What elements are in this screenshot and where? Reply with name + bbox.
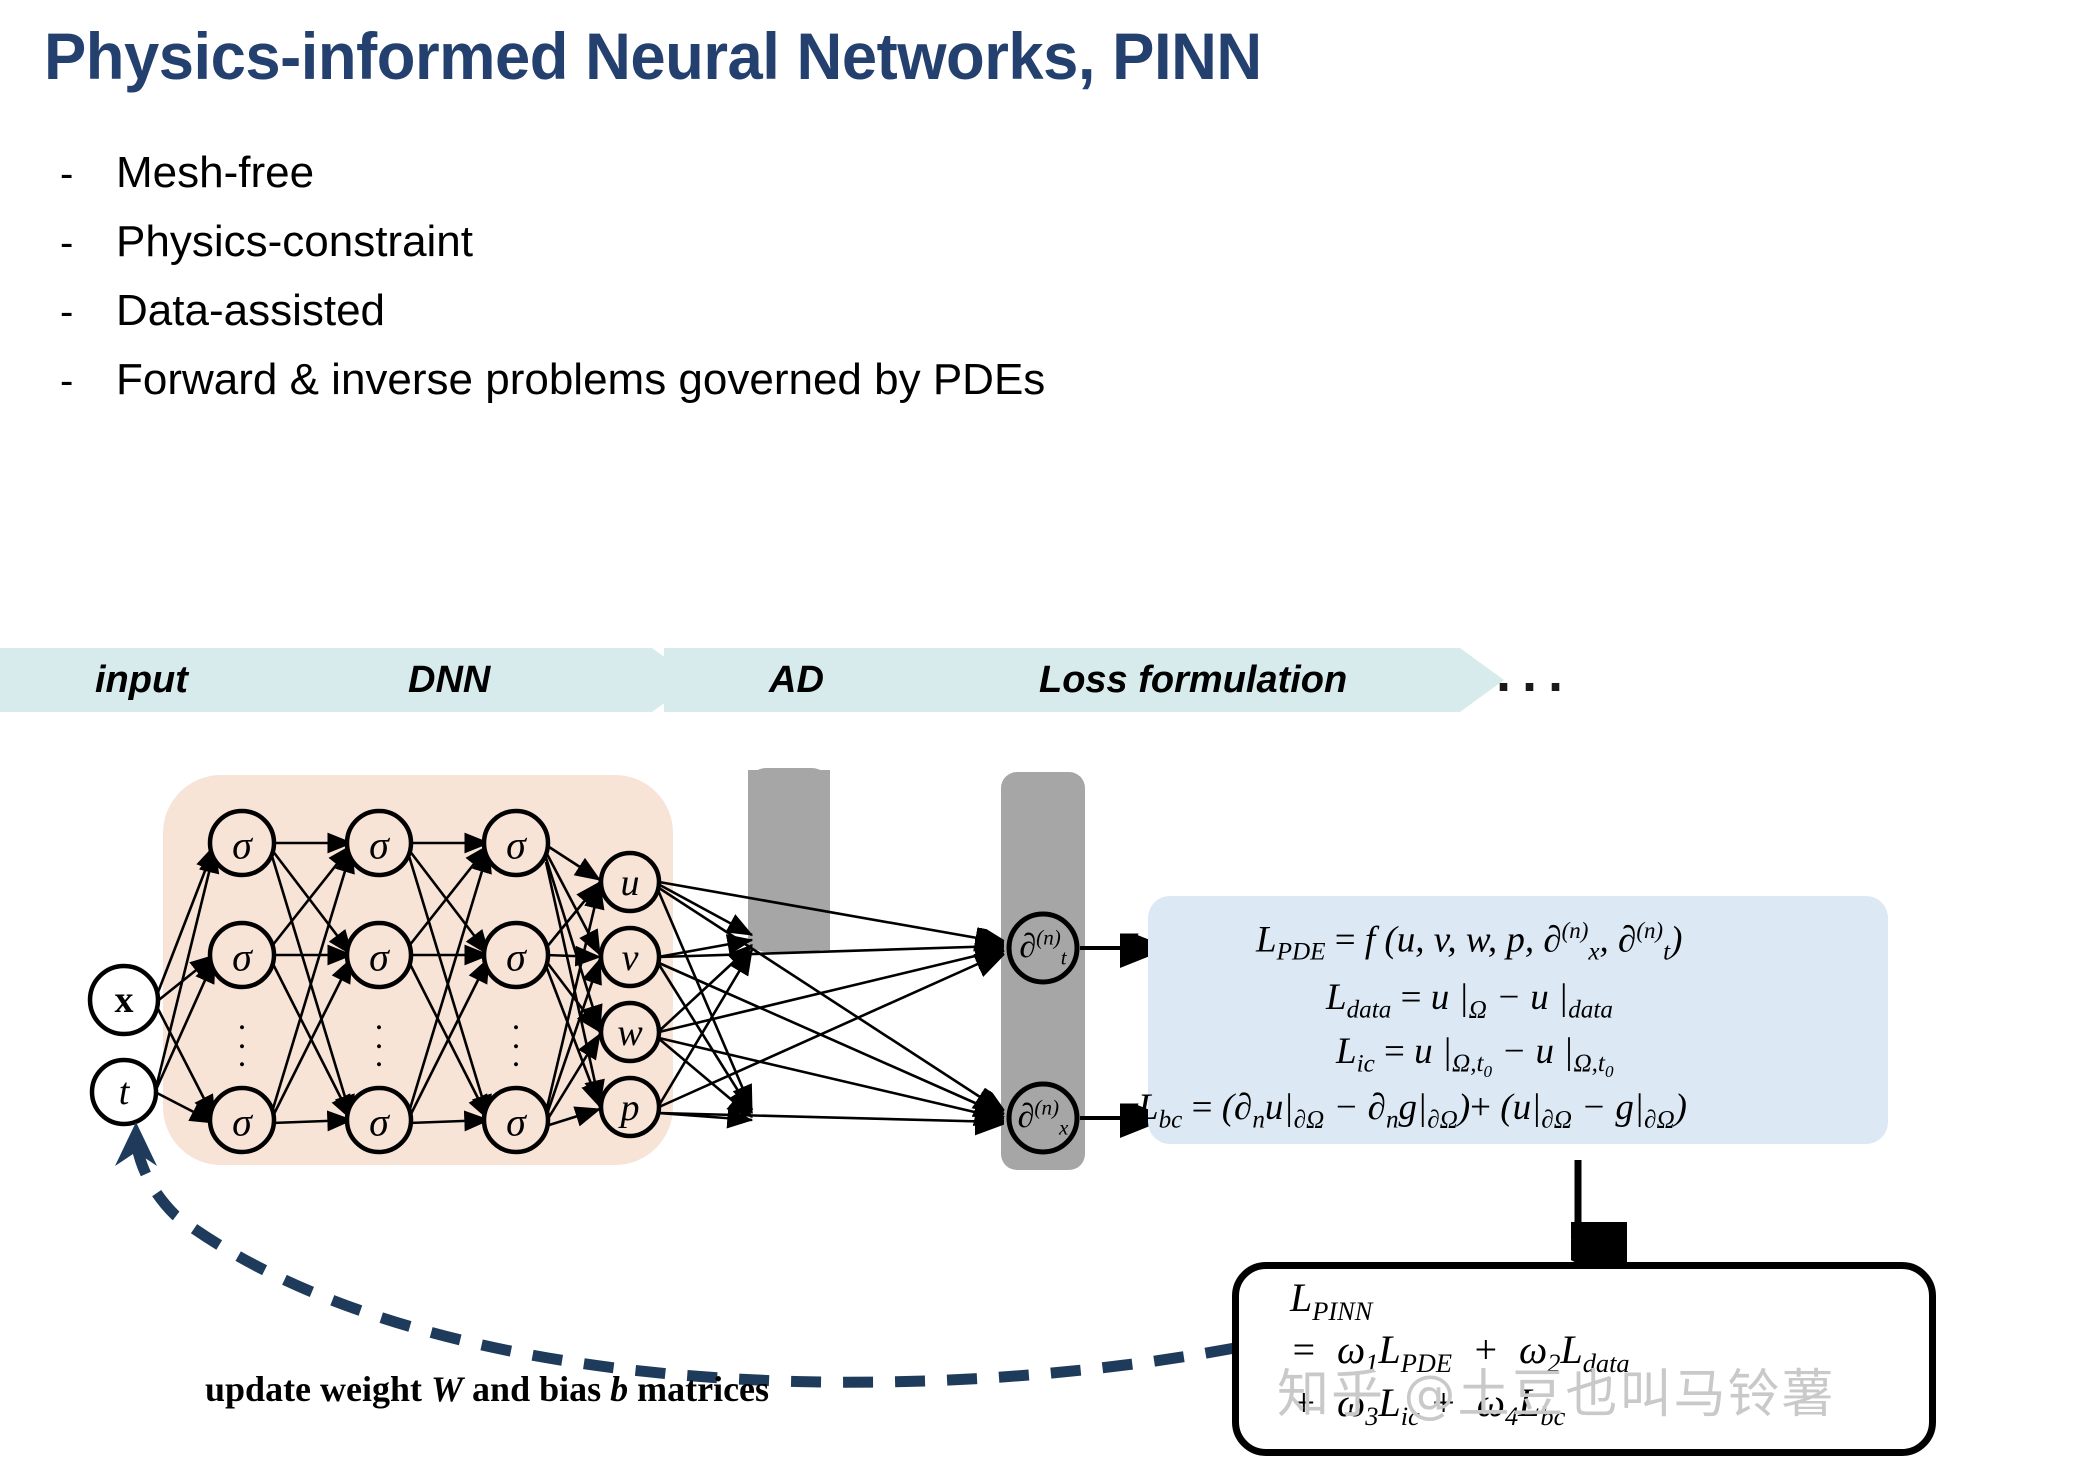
caption-prefix: update weight	[205, 1369, 431, 1409]
hidden-layer-ellipsis: ...	[512, 1010, 521, 1066]
hidden-node-label: σ	[369, 1099, 389, 1146]
hidden-node-label: σ	[232, 934, 252, 981]
pinn-eq-line-1: LPINN	[1290, 1278, 1910, 1324]
ad-node-label-dt: ∂(n)t	[1019, 925, 1066, 970]
output-node-label-p: p	[621, 1086, 640, 1130]
slide-canvas: Physics-informed Neural Networks, PINN -…	[0, 0, 2089, 1470]
hidden-node-label: σ	[232, 822, 252, 869]
input-node-label-x: x	[115, 978, 134, 1022]
output-node-label-w: w	[617, 1011, 642, 1055]
hidden-layer-ellipsis: ...	[238, 1010, 247, 1066]
hidden-node-label: σ	[369, 822, 389, 869]
hidden-node-label: σ	[369, 934, 389, 981]
caption-middle: and bias	[463, 1369, 610, 1409]
caption-symbol-b: b	[610, 1369, 628, 1409]
caption-symbol-w: W	[431, 1369, 463, 1409]
ad-node-label-dx: ∂(n)x	[1018, 1095, 1069, 1140]
watermark: 知乎 @土豆也叫马铃薯	[1277, 1352, 1836, 1427]
equation-l-bc: Lbc = (∂nu|∂Ω − ∂ng|∂Ω)+ (u|∂Ω − g|∂Ω)	[1138, 1086, 1687, 1134]
equation-l-pde: LPDE = f (u, v, w, p, ∂(n)x, ∂(n)t)	[1256, 918, 1682, 967]
output-node-label-v: v	[622, 936, 639, 980]
hidden-layer-ellipsis: ...	[375, 1010, 384, 1066]
hidden-node-label: σ	[232, 1099, 252, 1146]
update-caption: update weight W and bias b matrices	[205, 1368, 769, 1410]
hidden-node-label: σ	[506, 934, 526, 981]
hidden-node-label: σ	[506, 1099, 526, 1146]
hidden-node-label: σ	[506, 822, 526, 869]
output-node-label-u: u	[621, 861, 640, 905]
loss-formulation-box: LPDE = f (u, v, w, p, ∂(n)x, ∂(n)t) Ldat…	[1148, 896, 1888, 1144]
caption-suffix: matrices	[628, 1369, 769, 1409]
equation-l-ic: Lic = u |Ω,t0 − u |Ω,t0	[1336, 1030, 1613, 1082]
equation-l-data: Ldata = u |Ω − u |data	[1326, 976, 1613, 1024]
input-node-label-t: t	[119, 1070, 130, 1114]
node-label-layer: x t σ σ σ ... σ σ σ ... σ σ σ ... u v w …	[0, 0, 2089, 1470]
